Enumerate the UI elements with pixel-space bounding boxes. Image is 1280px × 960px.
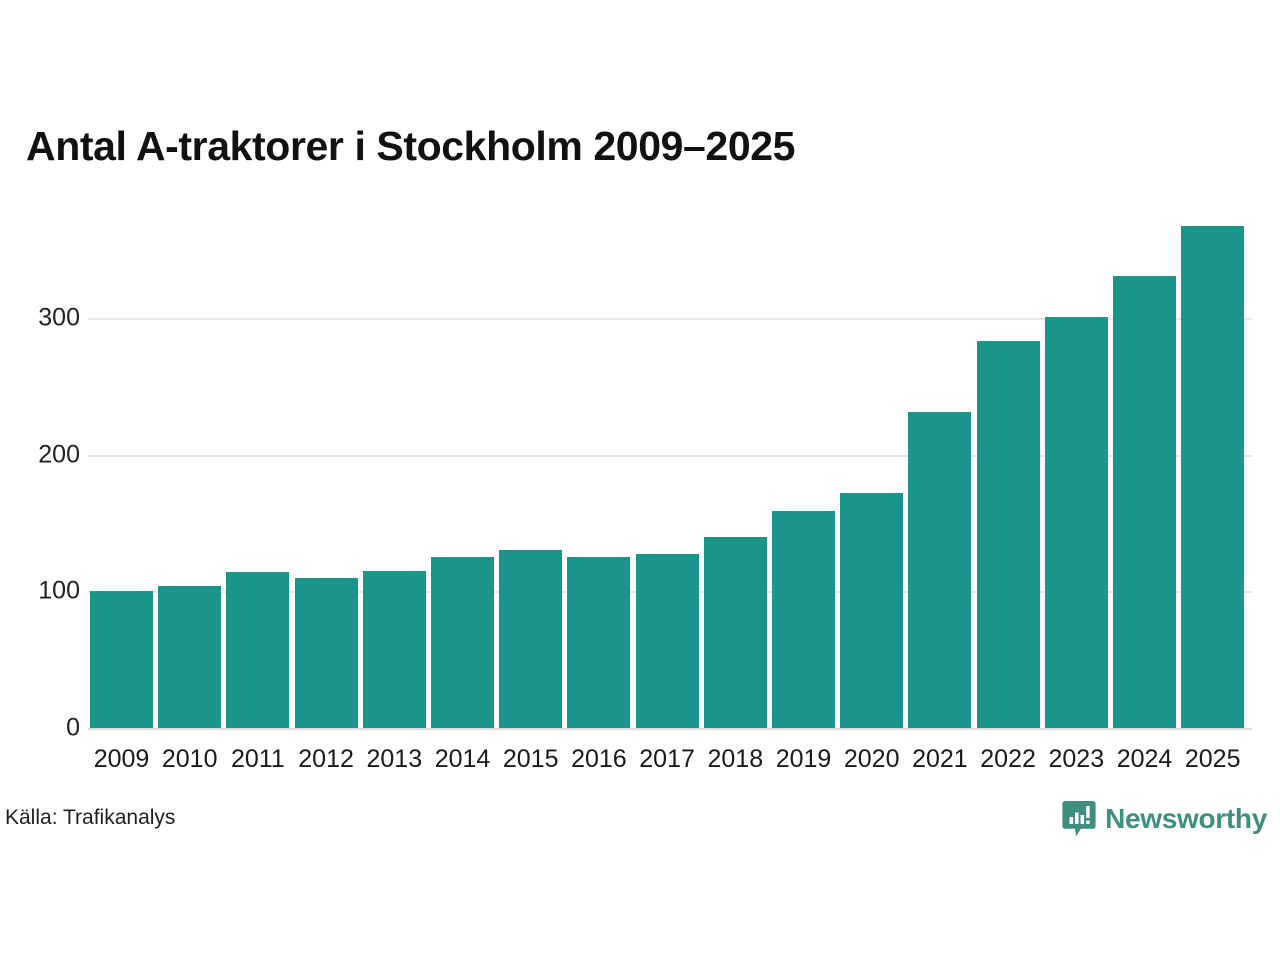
brand-name: Newsworthy <box>1105 803 1267 835</box>
bar-2015[interactable] <box>499 550 562 728</box>
bar-2010[interactable] <box>158 586 221 728</box>
bar-2021[interactable] <box>908 412 971 728</box>
bar-2022[interactable] <box>977 341 1040 728</box>
bar-2016[interactable] <box>567 557 630 728</box>
bar-2023[interactable] <box>1045 317 1108 728</box>
bar-2012[interactable] <box>295 578 358 728</box>
bar-2013[interactable] <box>363 571 426 728</box>
source-note: Källa: Trafikanalys <box>5 806 175 830</box>
bar-2024[interactable] <box>1113 276 1176 728</box>
bar-2025[interactable] <box>1181 226 1244 728</box>
bar-2020[interactable] <box>840 493 903 728</box>
bar-2014[interactable] <box>431 557 494 728</box>
newsworthy-brand: Newsworthy <box>1062 800 1267 838</box>
bar-2017[interactable] <box>636 554 699 728</box>
bar-2009[interactable] <box>90 591 153 728</box>
plot-area: 0100200300 <box>0 200 1280 735</box>
x-axis: 2009201020112012201320142015201620172018… <box>0 745 1280 785</box>
bar-2011[interactable] <box>226 572 289 728</box>
bar-series <box>0 200 1280 735</box>
bar-2019[interactable] <box>772 511 835 728</box>
chart-title: Antal A-traktorer i Stockholm 2009–2025 <box>26 123 795 170</box>
newsworthy-logo-icon <box>1062 800 1096 838</box>
bar-2018[interactable] <box>704 537 767 728</box>
chart-figure: Antal A-traktorer i Stockholm 2009–2025 … <box>0 0 1280 960</box>
x-axis-tick-label-2025: 2025 <box>1168 745 1258 774</box>
